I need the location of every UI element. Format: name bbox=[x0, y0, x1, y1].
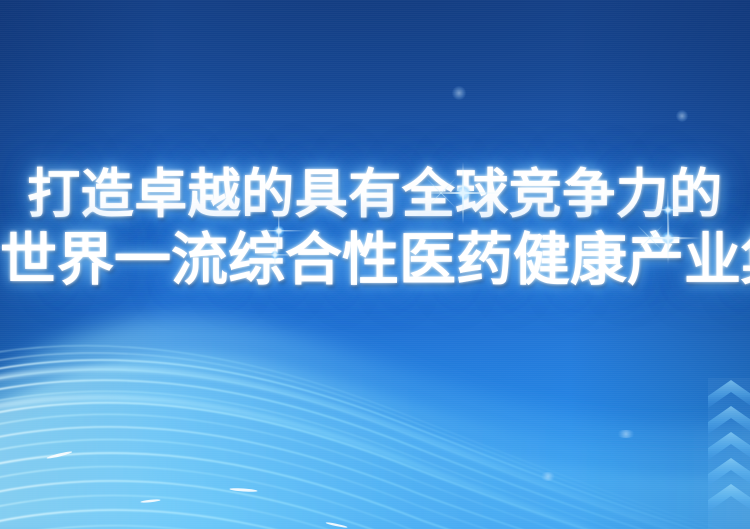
vision-banner: 打造卓越的具有全球竞争力的 世界一流综合性医药健康产业集团 bbox=[0, 0, 750, 529]
ambient-orb bbox=[452, 86, 466, 100]
page-title: 打造卓越的具有全球竞争力的 世界一流综合性医药健康产业集团 bbox=[0, 168, 750, 290]
headline-line-1: 打造卓越的具有全球竞争力的 bbox=[0, 168, 750, 222]
ambient-orb bbox=[676, 110, 688, 122]
chevron-stack-icon bbox=[706, 378, 750, 529]
headline-line-2: 世界一流综合性医药健康产业集团 bbox=[0, 232, 750, 290]
